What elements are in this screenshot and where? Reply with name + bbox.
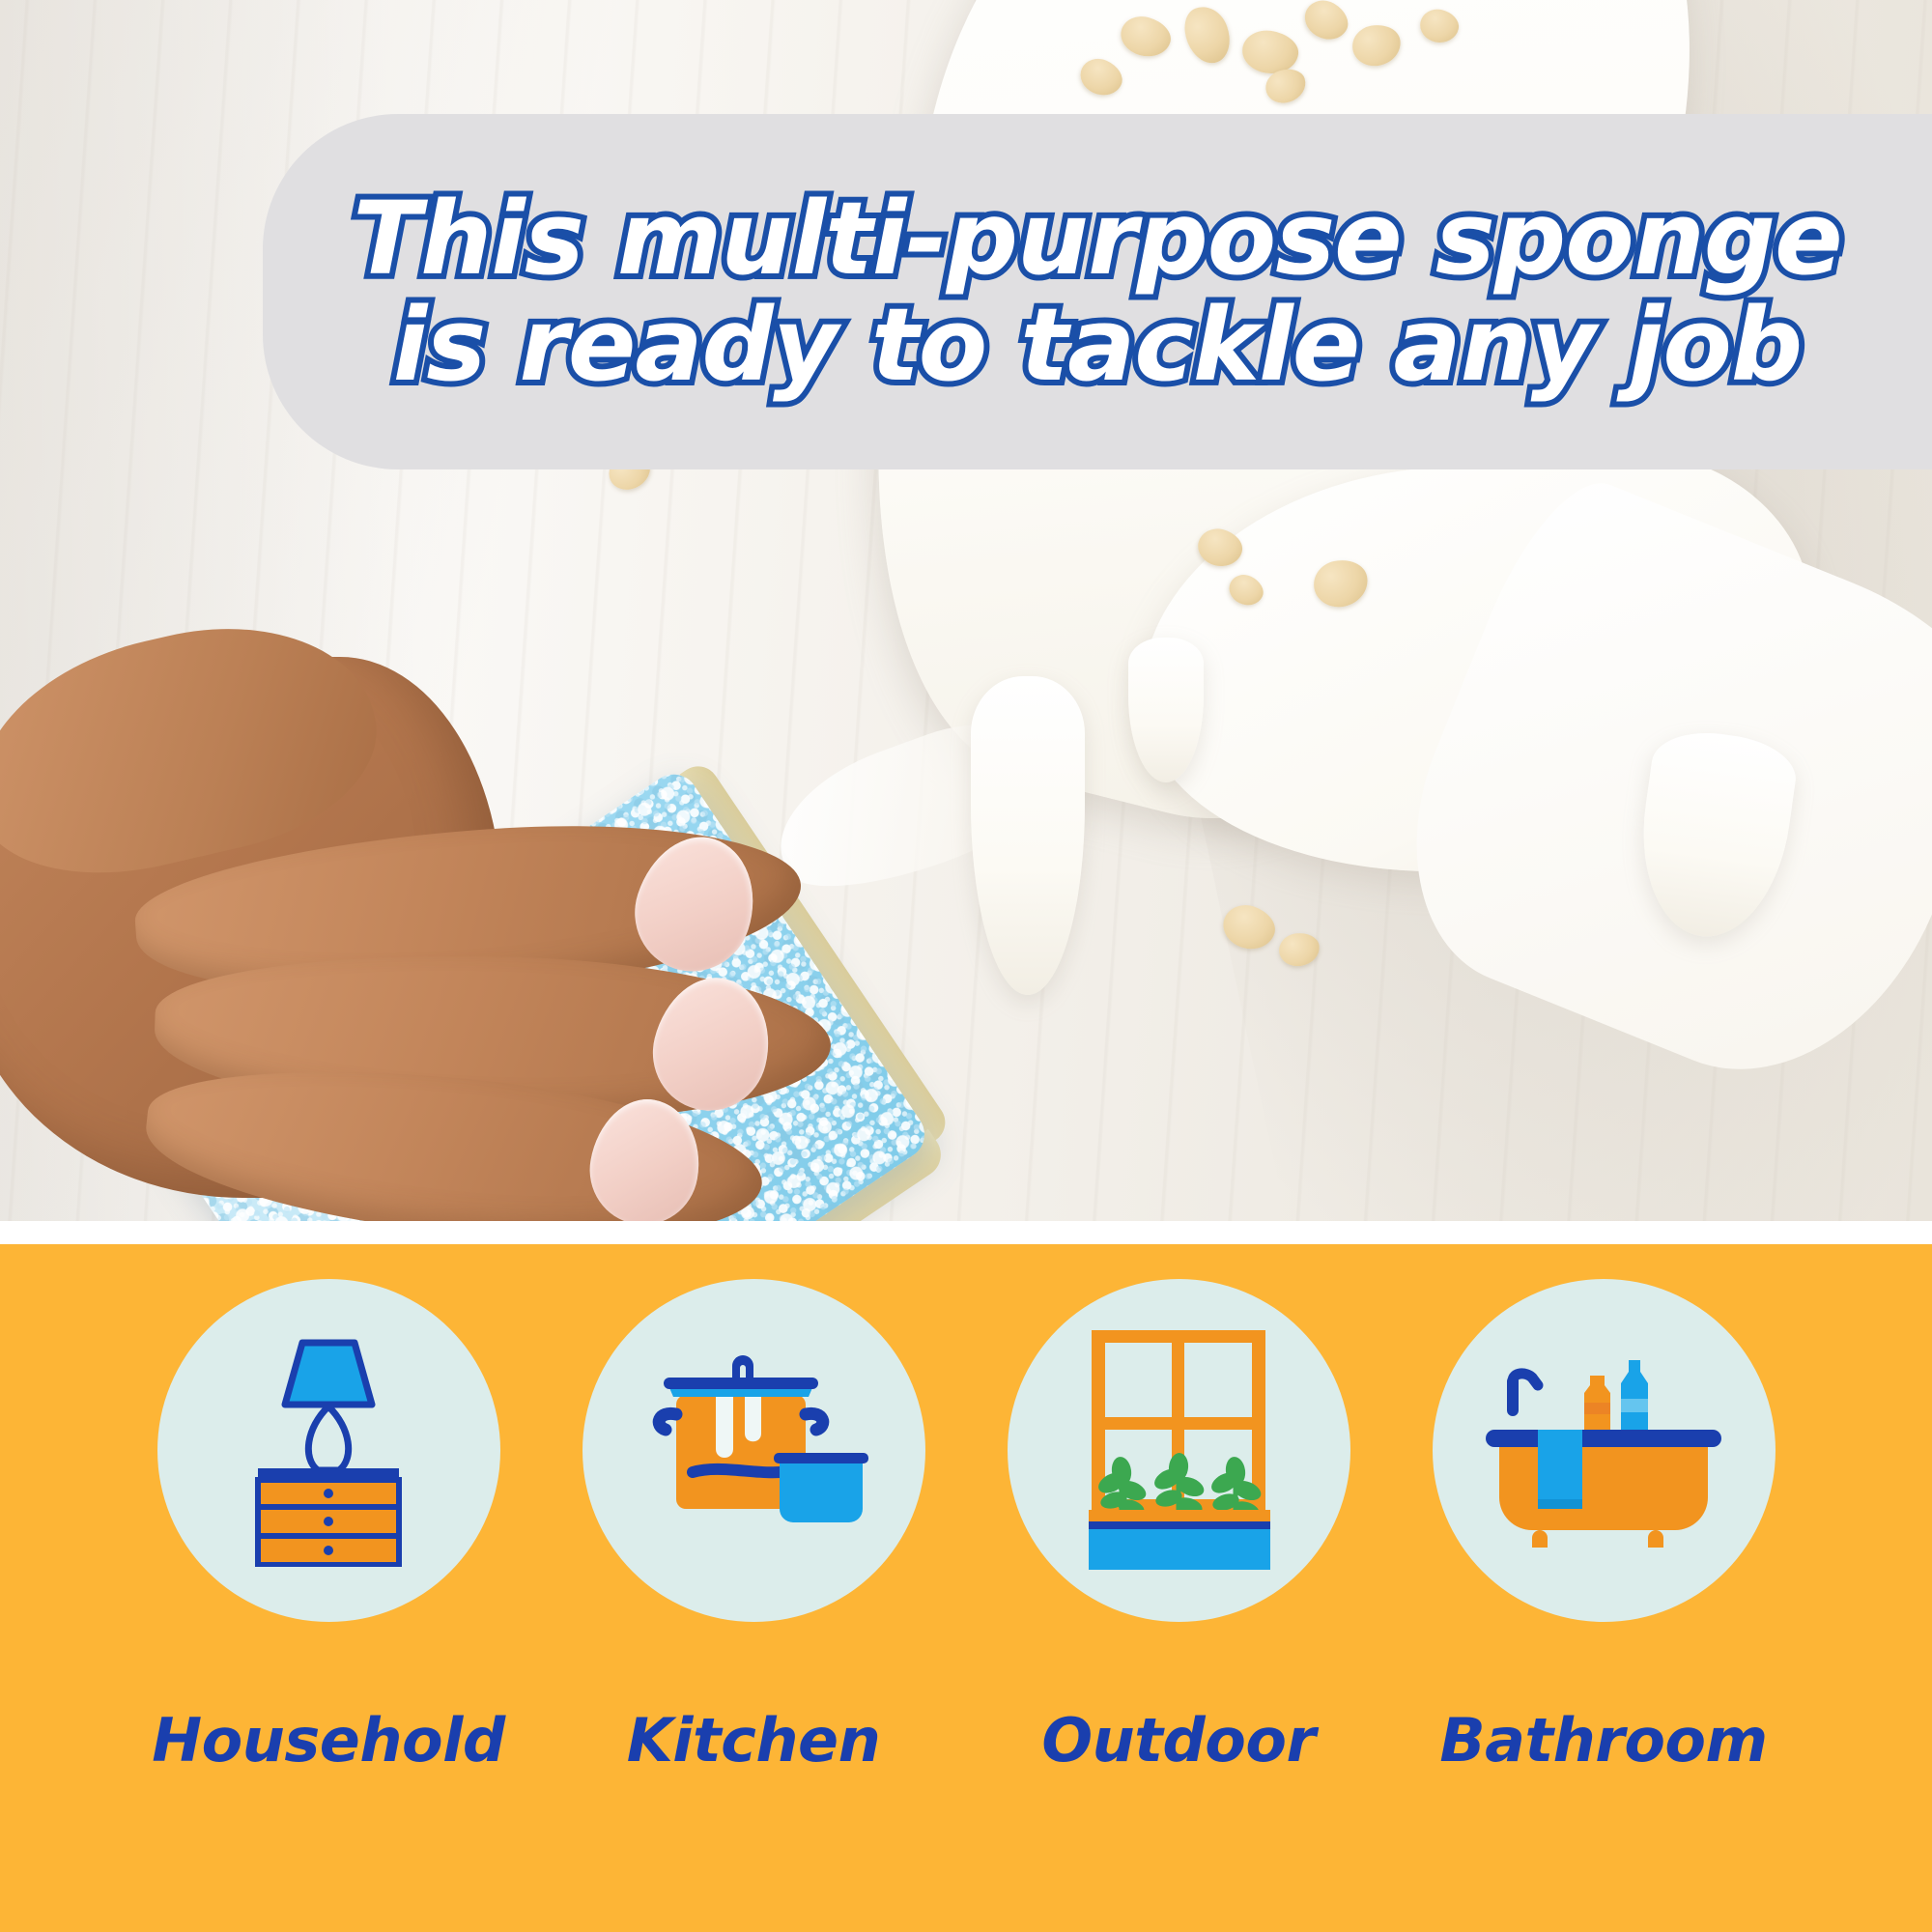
hero-photo: This multi-purpose sponge is ready to ta… <box>0 0 1932 1221</box>
headline-line-1: This multi-purpose sponge <box>353 185 1841 292</box>
window-planter-icon <box>1075 1330 1283 1572</box>
use-case-label-household: Household <box>152 1705 504 1776</box>
product-infographic: This multi-purpose sponge is ready to ta… <box>0 0 1932 1932</box>
icon-circle-household <box>157 1279 500 1622</box>
hand-holding-sponge <box>0 541 956 1221</box>
headline-line-2: is ready to tackle any job <box>393 292 1802 398</box>
icon-circle-kitchen <box>582 1279 925 1622</box>
use-case-kitchen[interactable]: Kitchen <box>541 1244 966 1776</box>
use-cases-section: Household <box>0 1244 1932 1932</box>
section-divider <box>0 1221 1932 1244</box>
headline-banner: This multi-purpose sponge is ready to ta… <box>263 114 1932 469</box>
bathtub-icon <box>1478 1354 1729 1548</box>
nightstand-lamp-icon <box>217 1335 440 1567</box>
icon-circle-outdoor <box>1008 1279 1350 1622</box>
cooking-pot-icon <box>633 1354 874 1548</box>
use-case-outdoor[interactable]: Outdoor <box>966 1244 1391 1776</box>
use-case-label-bathroom: Bathroom <box>1439 1705 1767 1776</box>
use-case-bathroom[interactable]: Bathroom <box>1391 1244 1816 1776</box>
use-case-household[interactable]: Household <box>116 1244 541 1776</box>
icon-circle-bathroom <box>1433 1279 1776 1622</box>
use-case-list: Household <box>116 1244 1816 1932</box>
use-case-label-kitchen: Kitchen <box>627 1705 881 1776</box>
use-case-label-outdoor: Outdoor <box>1041 1705 1315 1776</box>
